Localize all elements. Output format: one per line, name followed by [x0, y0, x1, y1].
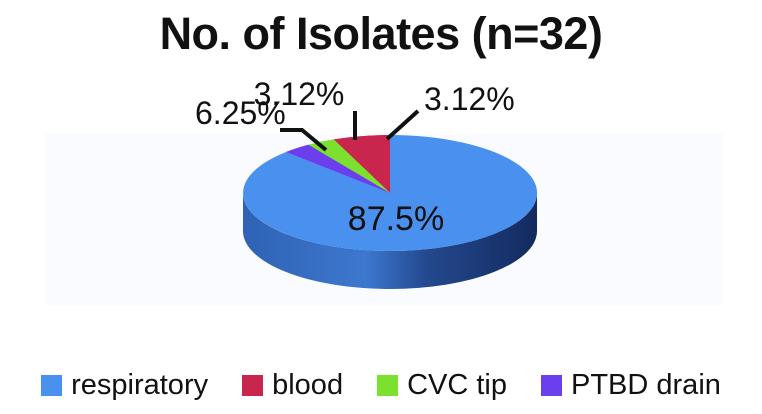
- legend-item-blood[interactable]: blood: [242, 370, 343, 400]
- chart-legend: respiratory blood CVC tip PTBD drain: [0, 362, 762, 408]
- legend-swatch-icon: [377, 375, 398, 396]
- legend-swatch-icon: [242, 375, 263, 396]
- legend-label: blood: [272, 370, 343, 400]
- legend-swatch-icon: [541, 375, 562, 396]
- pie-graphic: 6.25% 3.12% 3.12% 87.5%: [0, 0, 762, 414]
- pie-chart-figure: No. of Isolates (n=32): [0, 0, 762, 414]
- legend-item-respiratory[interactable]: respiratory: [41, 370, 208, 400]
- legend-label: PTBD drain: [571, 370, 721, 400]
- legend-label: respiratory: [71, 370, 208, 400]
- slice-label-cvc-tip: 3.12%: [254, 76, 345, 112]
- legend-label: CVC tip: [407, 370, 507, 400]
- legend-swatch-icon: [41, 375, 62, 396]
- legend-item-ptbd-drain[interactable]: PTBD drain: [541, 370, 721, 400]
- leader-line-ptbd-drain: [387, 111, 418, 139]
- slice-label-ptbd-drain: 3.12%: [424, 81, 515, 117]
- slice-label-respiratory: 87.5%: [348, 200, 444, 238]
- legend-item-cvc-tip[interactable]: CVC tip: [377, 370, 507, 400]
